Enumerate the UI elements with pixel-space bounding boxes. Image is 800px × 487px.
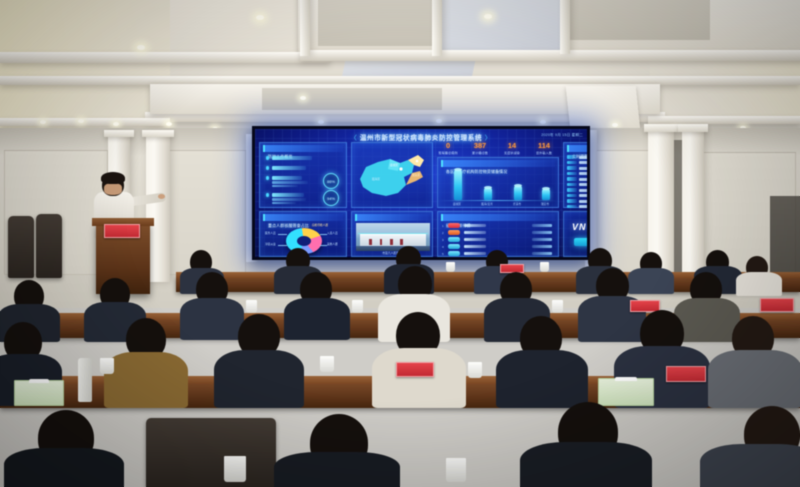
panel-alert-log[interactable]: 实时预警信息: [563, 142, 587, 208]
donut-label: 冷链从业: [265, 242, 276, 246]
building-window: [400, 239, 403, 245]
ceiling-beam-v2: [432, 0, 442, 56]
led-display-screen[interactable]: 〈 温州市新型冠状病毒肺炎防控管理系统 〉 2020年 9月 15日 星期二 防…: [252, 126, 590, 260]
panel-overview[interactable]: 防控工作概览 86%: [259, 142, 347, 208]
gauge-value: 86%: [324, 174, 338, 188]
bullet-dot-icon: [266, 166, 269, 169]
bar-label: 瓯海/龙湾: [480, 202, 494, 206]
kpi-label: 无症状感染: [499, 150, 525, 155]
donut-leader-line: [278, 234, 287, 235]
tea-cup: [446, 262, 455, 272]
donut-legend-top: 应检尽检人群: [312, 223, 328, 227]
log-row[interactable]: [567, 188, 587, 192]
donut-leader-line: [320, 234, 327, 235]
title-deco-left: 〈: [350, 135, 357, 142]
downlight-icon: [166, 122, 172, 126]
tea-cup: [246, 300, 257, 313]
kpi-value: 387: [467, 142, 493, 150]
table-row[interactable]: 1: [442, 223, 554, 229]
bar: [484, 188, 492, 200]
dashboard: 〈 温州市新型冠状病毒肺炎防控管理系统 〉 2020年 9月 15日 星期二 防…: [255, 129, 587, 257]
chair: [36, 214, 62, 278]
audience-torso: [214, 350, 304, 408]
downlight-icon: [256, 15, 264, 20]
speaker-face: [104, 183, 122, 195]
name-placard: [396, 362, 434, 377]
speaker-hand: [158, 194, 165, 199]
rank-name: [464, 252, 486, 255]
rank-value: [532, 238, 552, 241]
rank-badge: [448, 244, 460, 249]
overview-item[interactable]: [266, 193, 306, 204]
bar: [542, 189, 550, 200]
log-tag: [567, 155, 577, 158]
building-window: [380, 239, 383, 245]
map-label: 瓯海区: [372, 177, 380, 181]
log-tag: [567, 188, 577, 191]
downlight-icon: [540, 120, 546, 124]
donut-label: 其他人群: [327, 242, 338, 246]
panel-map[interactable]: 鹿城区 瓯海区 洞头区: [351, 142, 433, 208]
tea-cup: [224, 456, 246, 482]
bar-chart: 鹿城区 瓯海/龙湾 乐清市 瑞安市: [438, 168, 558, 207]
log-row[interactable]: [567, 199, 587, 203]
dashboard-datetime: 2020年 9月 15日 星期二: [541, 133, 583, 138]
downlight-icon: [113, 122, 119, 126]
enter-console-button[interactable]: 进入管理后台: [574, 238, 587, 246]
table-row[interactable]: 2: [442, 230, 554, 236]
audience-torso: [372, 348, 466, 408]
rank-name: [464, 231, 486, 234]
rank-index: 2: [442, 231, 444, 235]
panel-brand[interactable]: VNT 越亚信 进入管理后台: [563, 211, 587, 257]
rank-index: 3: [442, 238, 444, 242]
tea-cup: [468, 362, 482, 378]
bullet-dot-icon: [266, 156, 269, 159]
wall-pilaster-capital-2: [142, 130, 174, 137]
log-tag: [567, 177, 577, 180]
bullet-dot-icon: [266, 176, 269, 179]
log-row[interactable]: [567, 166, 587, 170]
water-bottle: [78, 358, 92, 402]
panel-overview-header: 防控工作概览: [263, 145, 343, 152]
ceiling-coffer-right: [566, 86, 641, 130]
ceiling-coffer-lower-recess: [262, 88, 442, 110]
log-tag: [567, 161, 577, 164]
ceiling-beam-v3: [560, 0, 570, 54]
downlight-icon: [300, 96, 306, 100]
log-tag: [567, 172, 577, 175]
kpi-card[interactable]: 0 现有确诊病例: [435, 142, 461, 155]
tea-cup: [320, 356, 334, 372]
log-row[interactable]: [567, 177, 587, 181]
tea-cup: [100, 358, 114, 374]
audience-torso: [284, 298, 350, 340]
log-row[interactable]: [567, 183, 587, 187]
tea-cup: [446, 458, 466, 482]
overview-item-sub: [272, 202, 296, 205]
cctv-image[interactable]: [356, 223, 430, 251]
rank-badge: [448, 251, 460, 256]
building-window: [390, 239, 393, 245]
wall-pilaster-capital-5: [644, 124, 678, 132]
rank-value: [532, 224, 552, 227]
podium-placard: [104, 224, 140, 238]
downlight-icon: [436, 119, 442, 123]
kpi-label: 累计确诊数: [467, 150, 493, 155]
ceiling-ac-panel: [440, 0, 560, 54]
wall-pilaster-6: [682, 128, 704, 280]
kpi-label: 现有确诊病例: [435, 150, 461, 155]
enter-console-button-label: 进入管理后台: [574, 238, 587, 246]
rank-badge: [448, 223, 460, 228]
overview-item[interactable]: [266, 176, 308, 187]
building-window: [369, 239, 372, 245]
rank-badge: [448, 230, 460, 235]
downlight-icon: [137, 45, 145, 50]
downlight-icon: [318, 120, 324, 124]
bar: [454, 170, 462, 200]
wall-pilaster-capital-6: [678, 124, 708, 132]
log-row[interactable]: [567, 161, 587, 165]
rank-name: [464, 238, 486, 241]
panel-cctv[interactable]: 定点医疗机构实景监控 市第六人民医院: [351, 211, 433, 257]
overview-item[interactable]: [266, 166, 306, 170]
panel-donut-chart-header: 重点人群核酸筛查占比: [263, 214, 343, 221]
rank-value: [532, 252, 552, 255]
kpi-value: 14: [499, 142, 525, 150]
bar: [514, 186, 522, 200]
table-row[interactable]: 3: [442, 237, 554, 243]
panel-alert-log-header: 实时预警信息: [567, 145, 587, 152]
gauge-value: 94%: [324, 191, 338, 205]
tissue-box: [598, 378, 654, 406]
panel-cctv-header: 定点医疗机构实景监控: [355, 214, 429, 221]
log-tag: [567, 199, 577, 202]
audience-torso: [274, 452, 400, 487]
chair: [146, 418, 276, 487]
donut-leader-line: [278, 245, 287, 246]
brand-logo: VNT: [572, 222, 587, 232]
kpi-label: 境外输入数: [531, 150, 557, 155]
donut-label: 医务人员: [265, 231, 276, 235]
rank-value: [532, 245, 552, 248]
tea-cup: [552, 300, 563, 313]
downlight-icon: [612, 123, 618, 127]
log-tag: [567, 183, 577, 186]
log-row[interactable]: [567, 194, 587, 198]
ceiling-beam-v1: [300, 0, 310, 56]
audience-torso: [708, 350, 800, 408]
ceiling-beam-6: [648, 116, 800, 124]
audience-torso: [736, 272, 782, 296]
region-map-icon[interactable]: [354, 149, 432, 205]
kpi-value: 114: [531, 142, 557, 150]
audience-torso: [104, 352, 188, 408]
log-row[interactable]: [567, 205, 587, 209]
audience-torso: [628, 268, 674, 294]
rank-badge: [448, 237, 460, 242]
log-tag: [567, 205, 577, 208]
rank-index: 1: [442, 224, 444, 228]
bar-label: 瑞安市: [538, 202, 552, 206]
bar-label: 乐清市: [510, 202, 524, 206]
kpi-card[interactable]: 387 累计确诊数: [467, 142, 493, 155]
panel-bar-chart[interactable]: 各区县医疗机构防控物资储备情况 鹿城区 瓯海/龙湾 乐清市 瑞安市: [437, 157, 559, 208]
doorway-right: [770, 196, 800, 284]
donut-label: 入境人员: [327, 231, 338, 235]
ceiling-beam-5: [0, 118, 170, 126]
ceiling-coffer-recess-b: [560, 0, 710, 40]
name-placard: [666, 366, 706, 382]
log-tag: [567, 166, 577, 169]
audience-torso: [4, 448, 124, 487]
overview-item[interactable]: [266, 156, 312, 160]
log-row[interactable]: [567, 155, 587, 159]
tea-cup: [540, 262, 549, 272]
rank-value: [532, 231, 552, 234]
donut-leader-line: [320, 245, 327, 246]
audience-torso: [520, 442, 652, 487]
overview-item-sub: [272, 185, 298, 188]
title-text: 温州市新型冠状病毒肺炎防控管理系统: [360, 135, 482, 142]
ceiling-beam-2: [300, 50, 800, 61]
kpi-card[interactable]: 14 无症状感染: [499, 142, 525, 155]
speaker-hair: [101, 172, 125, 184]
audience-torso: [496, 350, 588, 408]
map-label: 洞头区: [412, 173, 420, 177]
rank-name: [464, 245, 486, 248]
tea-cup: [352, 300, 363, 313]
panel-bar-chart-header: 各区县医疗机构防控物资储备情况: [441, 160, 555, 167]
kpi-card[interactable]: 114 境外输入数: [531, 142, 557, 155]
conference-room-photo: 〈 温州市新型冠状病毒肺炎防控管理系统 〉 2020年 9月 15日 星期二 防…: [0, 0, 800, 487]
log-row[interactable]: [567, 172, 587, 176]
rank-name: [464, 224, 486, 227]
audience-torso: [700, 444, 800, 487]
ceiling-beam-1: [0, 52, 330, 63]
rank-index: 5: [442, 252, 444, 256]
downlight-icon: [484, 14, 492, 19]
gauge-icon: 86%: [323, 173, 339, 189]
wall-pilaster-capital-1: [104, 130, 134, 137]
name-placard: [760, 298, 794, 312]
ceiling-coffer-recess-a: [318, 0, 438, 46]
chair: [8, 216, 34, 278]
map-label: 鹿城区: [390, 163, 398, 167]
tissue-box: [14, 380, 64, 406]
overview-item-sub: [272, 198, 306, 201]
kpi-value: 0: [435, 142, 461, 150]
bar-label: 鹿城区: [450, 202, 464, 206]
downlight-icon: [78, 119, 84, 123]
gauge-icon: 94%: [323, 190, 339, 206]
overview-item-sub: [272, 181, 308, 184]
downlight-icon: [40, 120, 46, 124]
audience-torso: [180, 298, 244, 340]
bullet-dot-icon: [266, 193, 269, 196]
rank-index: 4: [442, 245, 444, 249]
panel-rank-table-header: 接种量排行榜: [441, 214, 555, 221]
log-tag: [567, 194, 577, 197]
